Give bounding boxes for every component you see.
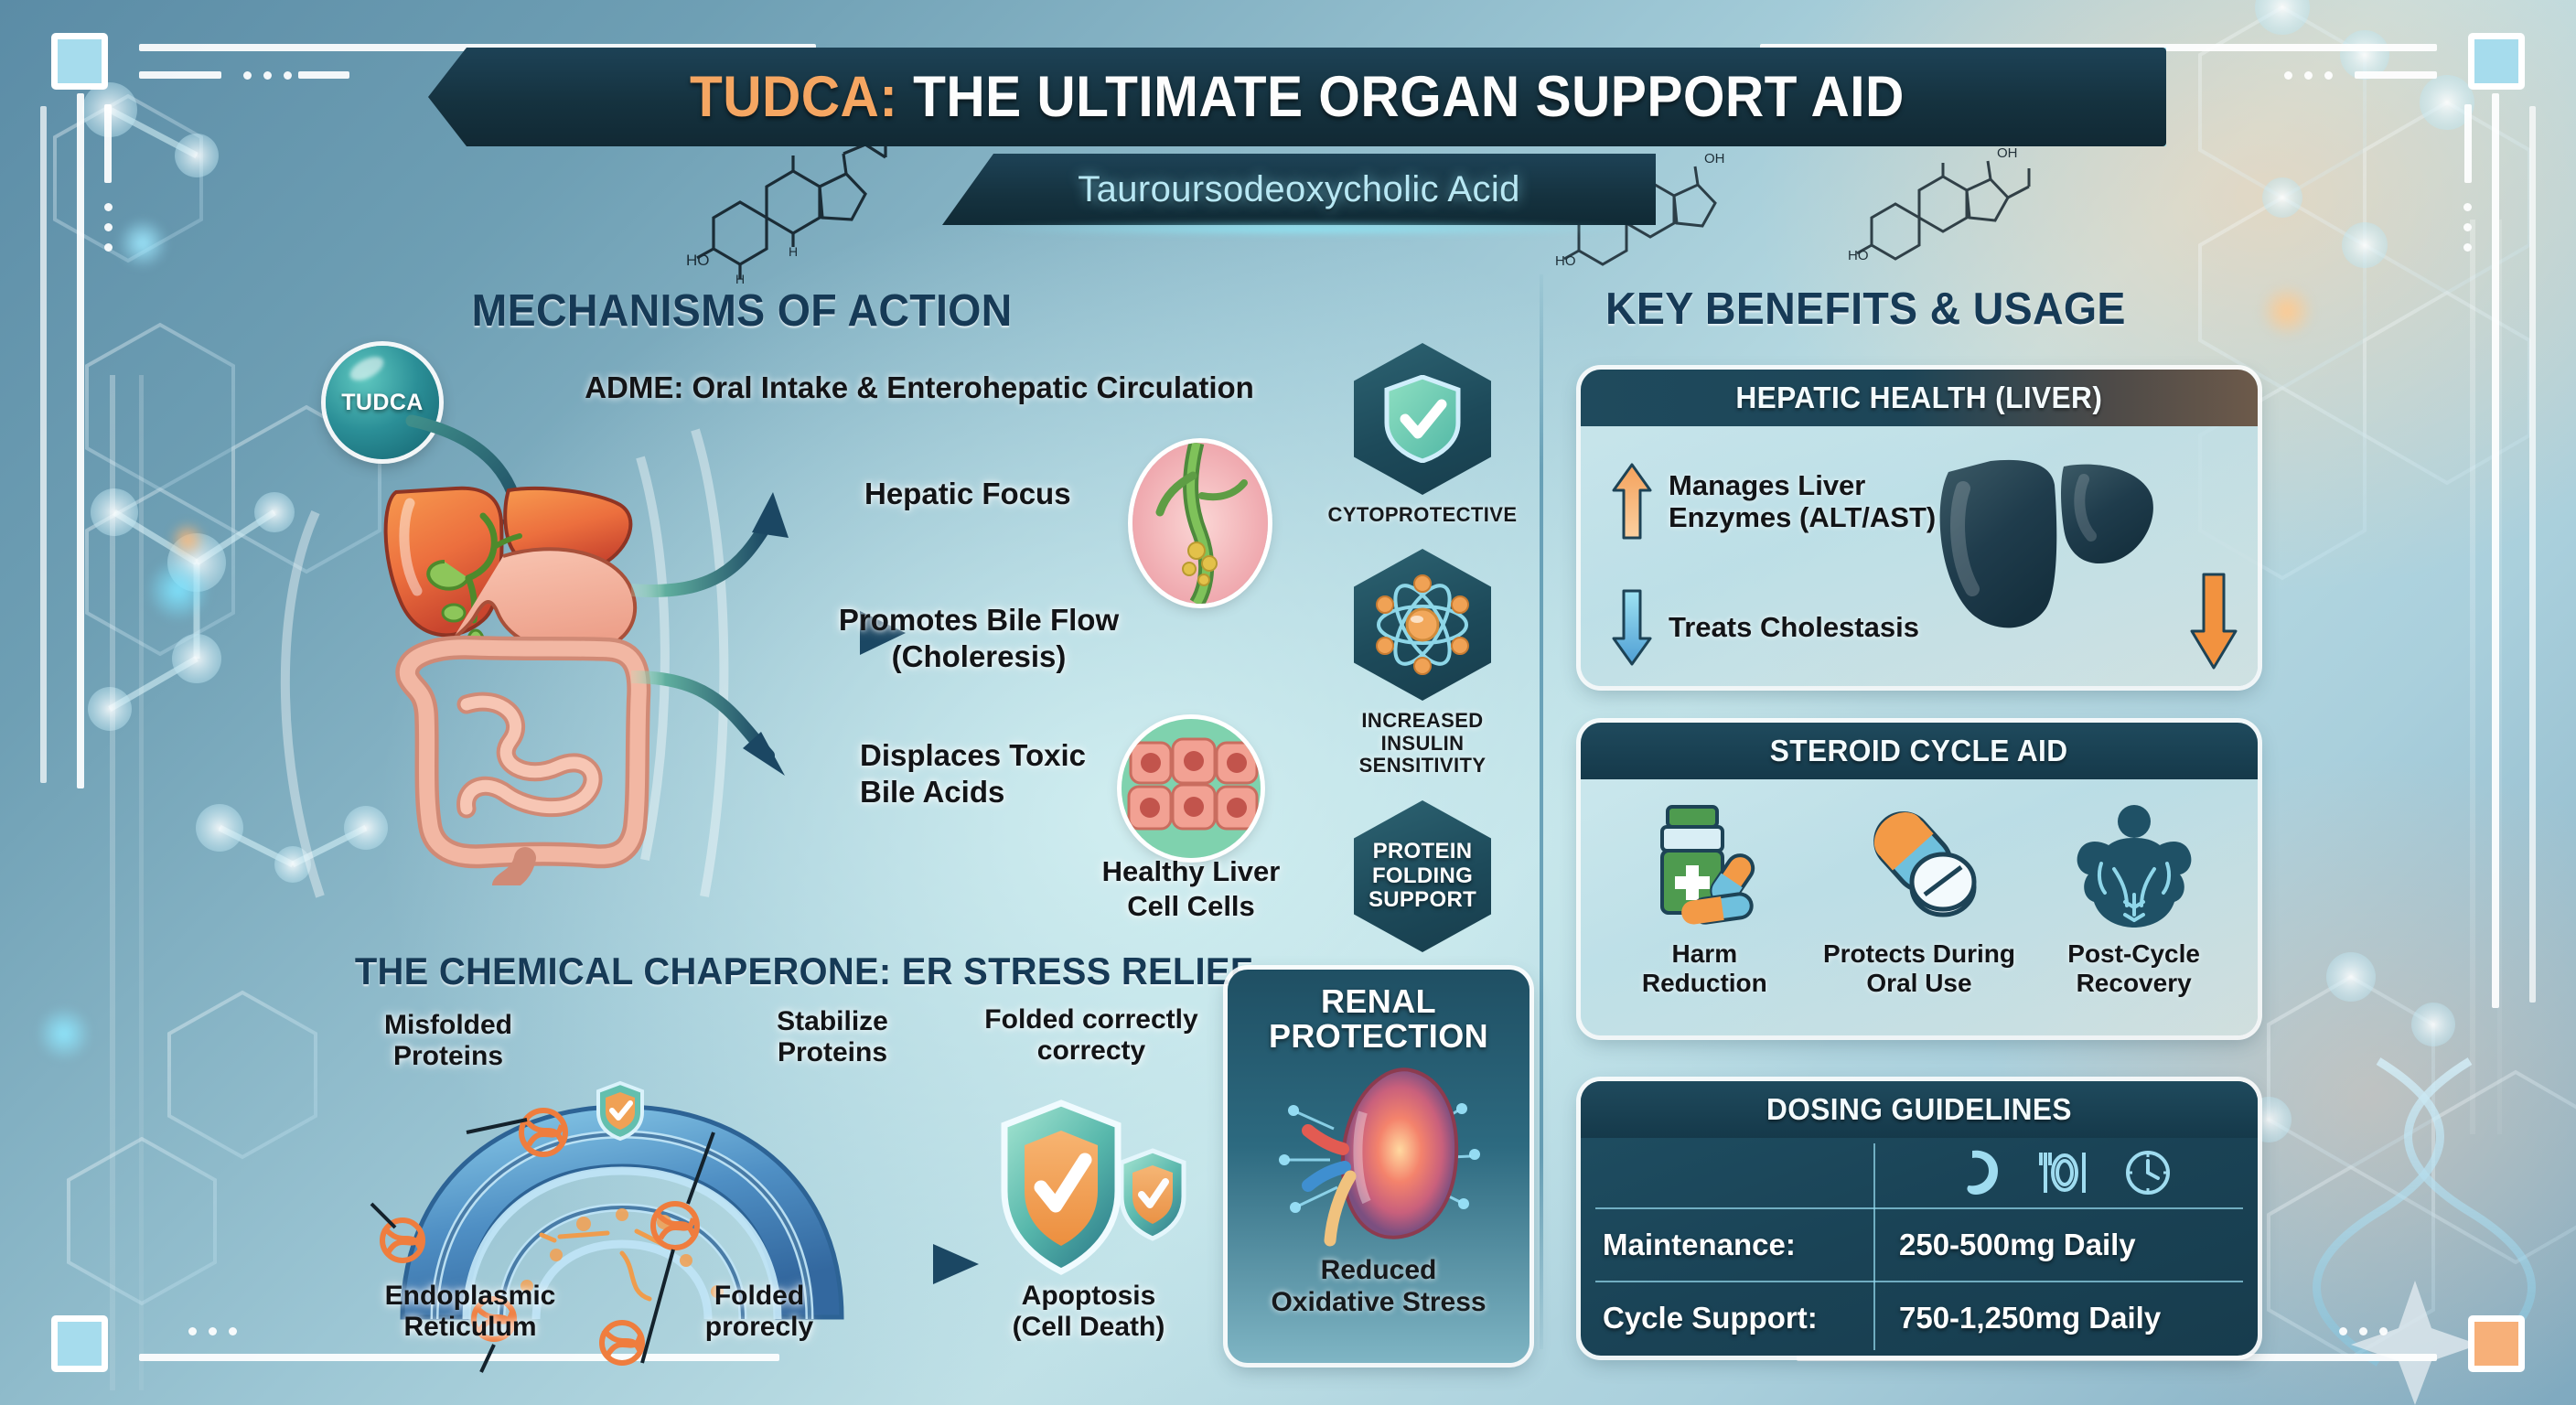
er-misfolded-line1: Misfolded bbox=[329, 1010, 567, 1041]
arrow-up-icon bbox=[1612, 463, 1652, 540]
shield-check-icon bbox=[1383, 375, 1462, 463]
pill-bottle-icon bbox=[1640, 799, 1768, 928]
stomach-icon bbox=[1959, 1147, 2005, 1198]
liver-cells-micrograph bbox=[1122, 719, 1261, 858]
steroid-item-post-cycle: Post-Cycle Recovery bbox=[2034, 799, 2234, 998]
clock-icon bbox=[2124, 1149, 2172, 1196]
liver-cells-caption-line2: Cell Cells bbox=[1008, 891, 1374, 923]
steroid-item-2-line1: Protects During bbox=[1819, 939, 2019, 969]
capsule-tablet-icon bbox=[1855, 799, 1983, 928]
chem-label-h2: H bbox=[789, 244, 798, 259]
flow-label-toxic-bile-line2: Bile Acids bbox=[860, 776, 1004, 810]
er-reticulum-line1: Endoplasmic bbox=[333, 1281, 607, 1312]
dosing-row-2-label: Cycle Support: bbox=[1603, 1301, 1818, 1335]
flow-label-toxic-bile-line1: Displaces Toxic bbox=[860, 739, 1086, 773]
er-apoptosis-line2: (Cell Death) bbox=[951, 1312, 1226, 1343]
chem-label-oh-3: OH bbox=[1997, 146, 2018, 161]
er-stabilize-line1: Stabilize bbox=[723, 1006, 942, 1037]
adme-line: ADME: Oral Intake & Enterohepatic Circul… bbox=[526, 370, 1313, 405]
er-folded-ok-line1: Folded correctly bbox=[940, 1004, 1242, 1035]
steroid-card-header: STEROID CYCLE AID bbox=[1581, 723, 2258, 779]
kidney-icon bbox=[1264, 1057, 1493, 1249]
liver-icon bbox=[1930, 457, 2159, 640]
flow-label-hepatic-focus: Hepatic Focus bbox=[864, 477, 1071, 511]
chem-label-ho: HO bbox=[686, 252, 710, 269]
hepatic-card-title: HEPATIC HEALTH (LIVER) bbox=[1736, 381, 2103, 415]
steroid-cycle-card: STEROID CYCLE AID bbox=[1581, 723, 2258, 1035]
er-stabilize-line2: Proteins bbox=[723, 1037, 942, 1068]
hepatic-side-arrow-down-icon bbox=[2190, 571, 2238, 670]
er-label-apoptosis: Apoptosis (Cell Death) bbox=[951, 1281, 1226, 1343]
steroid-item-3-line1: Post-Cycle bbox=[2034, 939, 2234, 969]
steroid-item-3-line2: Recovery bbox=[2034, 969, 2234, 998]
er-label-endoplasmic-reticulum: Endoplasmic Reticulum bbox=[333, 1281, 607, 1343]
hepatic-b1-line2: Enzymes (ALT/AST) bbox=[1669, 501, 1936, 533]
badge-cytoprotective-label: CYTOPROTECTIVE bbox=[1304, 504, 1541, 527]
page-title: TUDCA: THE ULTIMATE ORGAN SUPPORT AID bbox=[690, 64, 1905, 130]
column-divider bbox=[1540, 274, 1543, 1349]
badge-insulin-sensitivity-label: INCREASED INSULIN SENSITIVITY bbox=[1304, 710, 1541, 778]
corner-bracket-bottom-left bbox=[51, 1125, 298, 1372]
er-label-folded: Folded prorecly bbox=[640, 1281, 878, 1343]
renal-caption-line1: Reduced bbox=[1271, 1255, 1486, 1286]
er-folded-line1: Folded bbox=[640, 1281, 878, 1312]
infographic-canvas: OH HO H H OH HO bbox=[0, 0, 2576, 1405]
renal-protection-card: RENAL PROTECTION bbox=[1228, 970, 1529, 1363]
dosing-row-2-value: 750-1,250mg Daily bbox=[1899, 1301, 2161, 1335]
dosing-row-cycle-support: Cycle Support: 750-1,250mg Daily bbox=[1581, 1282, 2258, 1354]
steroid-item-oral-use: Protects During Oral Use bbox=[1819, 799, 2019, 998]
renal-title-line1: RENAL bbox=[1269, 984, 1488, 1019]
badge-protein-folding-text: PROTEIN FOLDING SUPPORT bbox=[1368, 840, 1476, 912]
benefits-section-title: KEY BENEFITS & USAGE bbox=[1605, 284, 2126, 335]
badge-cytoprotective bbox=[1354, 343, 1491, 495]
stabilize-shield-icon bbox=[598, 1083, 642, 1139]
dosing-card-header: DOSING GUIDELINES bbox=[1581, 1081, 2258, 1138]
flow-label-bile-flow-line1: Promotes Bile Flow bbox=[787, 604, 1171, 638]
title-banner: TUDCA: THE ULTIMATE ORGAN SUPPORT AID bbox=[428, 48, 2166, 146]
hepatic-bullet-1-text: Manages Liver Enzymes (ALT/AST) bbox=[1669, 469, 1936, 534]
mechanisms-section-title: MECHANISMS OF ACTION bbox=[472, 285, 1013, 337]
chemical-structure-right: OH HO bbox=[1848, 146, 2040, 279]
subtitle-text: Tauroursodeoxycholic Acid bbox=[1078, 169, 1520, 210]
steroid-item-1-line1: Harm bbox=[1605, 939, 1804, 969]
renal-card-caption: Reduced Oxidative Stress bbox=[1271, 1255, 1486, 1317]
renal-caption-line2: Oxidative Stress bbox=[1271, 1287, 1486, 1318]
dosing-guidelines-card: DOSING GUIDELINES bbox=[1581, 1081, 2258, 1356]
badge-protein-line1: PROTEIN bbox=[1368, 840, 1476, 863]
muscle-figure-icon bbox=[2061, 799, 2207, 928]
steroid-item-2-caption: Protects During Oral Use bbox=[1819, 939, 2019, 998]
chem-label-oh-2: OH bbox=[1704, 154, 1725, 166]
corner-bracket-bottom-right bbox=[2278, 1125, 2525, 1372]
badge-insulin-line3: SENSITIVITY bbox=[1304, 755, 1541, 778]
title-accent: TUDCA: bbox=[690, 65, 897, 129]
er-folded-ok-line2: correcty bbox=[940, 1035, 1242, 1067]
dosing-row-maintenance: Maintenance: 250-500mg Daily bbox=[1581, 1209, 2258, 1281]
er-apoptosis-line1: Apoptosis bbox=[951, 1281, 1226, 1312]
liver-cells-caption-line1: Healthy Liver bbox=[1008, 856, 1374, 888]
steroid-item-1-caption: Harm Reduction bbox=[1605, 939, 1804, 998]
chem-label-ho-2: HO bbox=[1555, 253, 1576, 269]
er-label-folded-correctly: Folded correctly correcty bbox=[940, 1004, 1242, 1067]
er-section-title: THE CHEMICAL CHAPERONE: ER STRESS RELIEF bbox=[355, 949, 1253, 993]
badge-insulin-line2: INSULIN bbox=[1304, 733, 1541, 756]
hepatic-health-card: HEPATIC HEALTH (LIVER) Manages Liver Enz… bbox=[1581, 370, 2258, 686]
badge-protein-line3: SUPPORT bbox=[1368, 888, 1476, 912]
badge-protein-line2: FOLDING bbox=[1368, 864, 1476, 888]
steroid-item-3-caption: Post-Cycle Recovery bbox=[2034, 939, 2234, 998]
er-folded-line2: prorecly bbox=[640, 1312, 878, 1343]
renal-title-line2: PROTECTION bbox=[1269, 1019, 1488, 1054]
renal-card-title: RENAL PROTECTION bbox=[1269, 984, 1488, 1054]
hepatic-b1-line1: Manages Liver bbox=[1669, 469, 1936, 501]
er-reticulum-line2: Reticulum bbox=[333, 1312, 607, 1343]
dosing-row-1-label: Maintenance: bbox=[1603, 1228, 1796, 1261]
chemical-structure-left: OH HO H H bbox=[686, 137, 896, 284]
flow-label-bile-flow-line2: (Choleresis) bbox=[787, 640, 1171, 674]
atom-icon bbox=[1372, 574, 1473, 675]
arrow-down-icon bbox=[1612, 589, 1652, 666]
steroid-card-title: STEROID CYCLE AID bbox=[1770, 734, 2068, 768]
header: OH HO H H OH HO bbox=[0, 0, 2576, 274]
badge-insulin-line1: INCREASED bbox=[1304, 710, 1541, 733]
dosing-card-title: DOSING GUIDELINES bbox=[1766, 1092, 2072, 1127]
er-misfolded-line2: Proteins bbox=[329, 1041, 567, 1072]
steroid-item-2-line2: Oral Use bbox=[1819, 969, 2019, 998]
bile-duct-micrograph bbox=[1132, 443, 1268, 604]
dosing-row-1-value: 250-500mg Daily bbox=[1899, 1228, 2136, 1261]
chem-label-h1: H bbox=[735, 272, 745, 284]
er-label-misfolded: Misfolded Proteins bbox=[329, 1010, 567, 1072]
steroid-item-1-line2: Reduction bbox=[1605, 969, 1804, 998]
er-label-stabilize: Stabilize Proteins bbox=[723, 1006, 942, 1068]
chem-label-ho-3: HO bbox=[1848, 248, 1869, 263]
title-main: THE ULTIMATE ORGAN SUPPORT AID bbox=[913, 65, 1905, 129]
badge-insulin-sensitivity bbox=[1354, 549, 1491, 701]
digestive-system-illustration bbox=[346, 474, 666, 885]
steroid-item-harm-reduction: Harm Reduction bbox=[1605, 799, 1804, 998]
subtitle-ribbon: Tauroursodeoxycholic Acid bbox=[942, 154, 1656, 225]
plate-cutlery-icon bbox=[2038, 1147, 2091, 1198]
badge-protein-folding: PROTEIN FOLDING SUPPORT bbox=[1354, 800, 1491, 952]
hepatic-card-header: HEPATIC HEALTH (LIVER) bbox=[1581, 370, 2258, 426]
hepatic-bullet-2-text: Treats Cholestasis bbox=[1669, 611, 1919, 643]
